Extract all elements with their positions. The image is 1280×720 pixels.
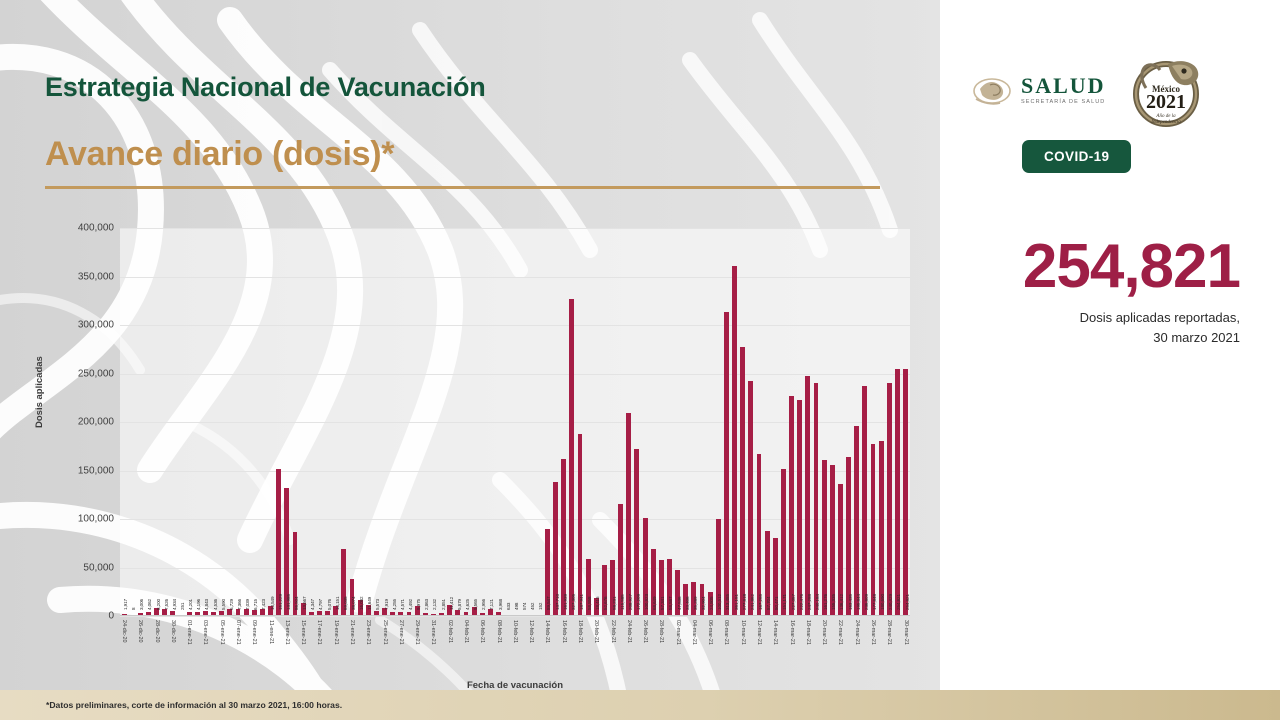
bar-item[interactable]: 58,231 [608,228,616,616]
national-seal-icon [970,73,1014,107]
x-axis-tick: 08-mar-21 [723,620,729,645]
bar-value-label: 254,821 [905,594,910,610]
x-axis-tick: 04-mar-21 [691,620,697,645]
x-axis-tick: 20-mar-21 [821,620,827,645]
bar[interactable] [903,369,908,616]
y-axis-tick: 0 [108,611,114,622]
bar[interactable] [887,383,892,616]
bar[interactable] [724,312,729,616]
salud-text-block: SALUD SECRETARÍA DE SALUD [1021,75,1106,106]
bar[interactable] [814,383,819,616]
x-axis-cell: 02-feb-21 [446,618,454,676]
x-axis-cell [389,618,397,676]
bar[interactable] [561,459,566,616]
bar[interactable] [634,449,639,616]
bar-item[interactable]: 1,917 [120,228,128,616]
bar-item[interactable]: 6,715 [250,228,258,616]
x-axis-cell: 29-ene-21 [413,618,421,676]
svg-text:2021: 2021 [1146,91,1186,113]
bar[interactable] [854,426,859,616]
bar-item[interactable]: 361,151 [731,228,739,616]
bar-item[interactable]: 187,941 [576,228,584,616]
bar-item[interactable]: 58,858 [584,228,592,616]
x-axis-tick: 12-feb-21 [528,620,534,643]
bar-item[interactable]: 5,573 [372,228,380,616]
bar-item[interactable]: 4,492 [405,228,413,616]
x-axis-cell: 24-dic-20 [120,618,128,676]
logo-group: SALUD SECRETARÍA DE SALUD México 2021 Añ… [970,50,1270,130]
x-axis-tick: 14-mar-21 [772,620,778,645]
x-axis-cell: 18-mar-21 [804,618,812,676]
bar-item[interactable]: 13,667 [299,228,307,616]
x-axis-cell [633,618,641,676]
mexico-2021-seal-icon: México 2021 Año de la Independencia [1124,48,1208,132]
x-axis-cell: 14-feb-21 [543,618,551,676]
bar-item[interactable]: 3,968 [494,228,502,616]
x-axis-cell: 24-feb-21 [625,618,633,676]
bar-item[interactable]: 161,276 [820,228,828,616]
bar-item[interactable]: 163,435 [845,228,853,616]
x-axis-tick: 30-dic-20 [170,620,176,642]
header: Estrategia Nacional de Vacunación Avance… [45,72,905,189]
x-axis-tick: 01-ene-21 [186,620,192,645]
x-axis-tick: 28-feb-21 [658,620,664,643]
bar-item[interactable]: 9,975 [413,228,421,616]
x-axis-cell: 10-mar-21 [739,618,747,676]
bar-item[interactable]: 254,821 [893,228,901,616]
x-axis-cell: 27-ene-21 [397,618,405,676]
bar-item[interactable]: 4,625 [462,228,470,616]
x-axis-cell: 31-ene-21 [429,618,437,676]
bar-item[interactable]: 5,879 [454,228,462,616]
bar-item[interactable]: 180,690 [877,228,885,616]
x-axis-cell [291,618,299,676]
x-axis-cell [861,618,869,676]
bar-item[interactable]: 4,797 [315,228,323,616]
x-axis-cell: 11-ene-21 [267,618,275,676]
x-axis-cell: 22-mar-21 [836,618,844,676]
x-axis-tick: 10-mar-21 [740,620,746,645]
x-axis-cell: 26-feb-21 [641,618,649,676]
bar-item[interactable]: 155,335 [828,228,836,616]
x-axis-tick: 23-ene-21 [365,620,371,645]
bar-item[interactable]: 80,471 [771,228,779,616]
bar[interactable] [846,457,851,616]
y-axis-title: Dosis aplicadas [34,356,45,428]
x-axis-cell [568,618,576,676]
x-axis-cell [551,618,559,676]
bar-item[interactable]: 115,585 [617,228,625,616]
bar[interactable] [822,460,827,616]
x-axis-cell [275,618,283,676]
x-axis-tick: 16-mar-21 [789,620,795,645]
bar-item[interactable]: 4,062 [144,228,152,616]
bar-item[interactable]: 277,818 [739,228,747,616]
x-axis-cell [584,618,592,676]
x-axis-cell [665,618,673,676]
x-axis-tick: 20-feb-21 [593,620,599,643]
bar-item[interactable]: 7,121 [486,228,494,616]
x-axis-tick: 25-ene-21 [382,620,388,645]
y-axis-tick: 300,000 [78,320,114,331]
x-axis-tick: 26-mar-21 [870,620,876,645]
bar[interactable] [895,369,900,616]
bar-series: 1,91783,0064,0628,2007,5264,9342514,2014… [120,228,910,616]
x-axis-cell [845,618,853,676]
bar-item[interactable]: 7,039 [242,228,250,616]
x-axis-cell [454,618,462,676]
x-axis-cell: 06-mar-21 [706,618,714,676]
bar-item[interactable]: 7,423 [258,228,266,616]
bar[interactable] [626,413,631,616]
x-axis-tick: 06-mar-21 [707,620,713,645]
bar-item[interactable]: 6,729 [226,228,234,616]
x-axis-cell: 14-mar-21 [771,618,779,676]
bar[interactable] [757,454,762,616]
footer-note: *Datos preliminares, corte de informació… [46,700,342,710]
bar-item[interactable]: 136,412 [836,228,844,616]
bar-item[interactable]: 4,571 [397,228,405,616]
bar[interactable] [805,376,810,616]
bar[interactable] [569,299,574,616]
x-axis-cell [210,618,218,676]
x-axis-cell: 15-ene-21 [299,618,307,676]
x-axis-cell [763,618,771,676]
bar-item[interactable]: 57,341 [657,228,665,616]
x-axis-cell [340,618,348,676]
x-axis-cell: 13-ene-21 [283,618,291,676]
x-axis-tick: 26-feb-21 [642,620,648,643]
x-axis-cell [356,618,364,676]
x-axis-tick: 04-feb-21 [463,620,469,643]
x-axis-tick: 13-ene-21 [284,620,290,645]
x-axis-cell [617,618,625,676]
x-axis-cell: 05-ene-21 [218,618,226,676]
x-axis-cell [258,618,266,676]
x-axis-cell: 03-ene-21 [201,618,209,676]
x-axis-tick: 03-ene-21 [202,620,208,645]
x-axis-cell: 08-feb-21 [494,618,502,676]
x-axis-cell [714,618,722,676]
x-axis-cell [307,618,315,676]
bar-item[interactable]: 86,504 [291,228,299,616]
bar-item[interactable]: 172,209 [633,228,641,616]
x-axis-cell [242,618,250,676]
x-axis-tick: 24-dic-20 [121,620,127,642]
x-axis-tick: 22-mar-21 [837,620,843,645]
x-axis-cell: 25-ene-21 [381,618,389,676]
caption-line-1: Dosis aplicadas reportadas, [940,308,1240,328]
bar-item[interactable]: 8,200 [153,228,161,616]
x-axis-cell: 01-ene-21 [185,618,193,676]
bar-item[interactable]: 58,587 [665,228,673,616]
bar-item[interactable]: 5,590 [218,228,226,616]
x-axis-cell: 20-mar-21 [820,618,828,676]
bar-item[interactable]: 251 [177,228,185,616]
x-axis-cell [193,618,201,676]
x-axis-tick: 30-mar-21 [903,620,909,645]
y-axis-tick: 200,000 [78,417,114,428]
y-axis-tick: 150,000 [78,465,114,476]
x-axis-cell: 08-mar-21 [722,618,730,676]
bar-item[interactable]: 195,844 [853,228,861,616]
bar-item[interactable]: 208,927 [625,228,633,616]
y-axis-tick: 400,000 [78,223,114,234]
bar-item[interactable]: 69,035 [340,228,348,616]
x-axis-tick: 09-ene-21 [251,620,257,645]
x-axis-cell: 24-mar-21 [853,618,861,676]
bar-item[interactable]: 10,549 [267,228,275,616]
bar[interactable] [871,444,876,617]
x-axis-cell [877,618,885,676]
bar[interactable] [578,434,583,616]
bar-item[interactable]: 24,805 [706,228,714,616]
bar-item[interactable]: 633 [503,228,511,616]
x-axis-tick: 12-mar-21 [756,620,762,645]
x-axis-cell: 02-mar-21 [674,618,682,676]
y-axis-tick: 100,000 [78,514,114,525]
bar-item[interactable]: 89,547 [543,228,551,616]
x-axis-cell [144,618,152,676]
bar-item[interactable]: 152 [535,228,543,616]
bar-item[interactable]: 327,305 [568,228,576,616]
bar[interactable] [740,347,745,616]
x-axis-cell: 07-ene-21 [234,618,242,676]
bar-item[interactable]: 4,201 [185,228,193,616]
bar-item[interactable]: 241,862 [747,228,755,616]
page-title: Estrategia Nacional de Vacunación [45,72,905,103]
bar-item[interactable]: 7,366 [234,228,242,616]
x-axis-line [120,615,910,616]
x-axis-cell: 17-ene-21 [315,618,323,676]
bar-item[interactable]: 254,821 [902,228,910,616]
bar[interactable] [862,386,867,616]
bar-item[interactable]: 167,265 [755,228,763,616]
bar-item[interactable]: 222,476 [796,228,804,616]
svg-text:Independencia: Independencia [1150,120,1181,125]
caption-line-2: 30 marzo 2021 [940,328,1240,348]
bar-item[interactable]: 18,415 [592,228,600,616]
x-axis-tick: 24-mar-21 [854,620,860,645]
bar-item[interactable]: 240,184 [812,228,820,616]
x-axis-cell [421,618,429,676]
x-axis-tick: 26-dic-20 [137,620,143,642]
x-axis-cell: 12-mar-21 [755,618,763,676]
bar-item[interactable]: 4,536 [210,228,218,616]
x-axis-tick: 02-mar-21 [675,620,681,645]
bar-item[interactable]: 2,132 [429,228,437,616]
x-axis-cell: 28-dic-20 [153,618,161,676]
daily-doses-bar-chart: Dosis aplicadas 050,000100,000150,000200… [40,228,920,688]
x-axis-cell [405,618,413,676]
x-axis-tick: 18-mar-21 [805,620,811,645]
title-divider [45,186,880,189]
x-axis-cell: 10-feb-21 [511,618,519,676]
x-axis-tick: 21-ene-21 [349,620,355,645]
bar[interactable] [879,441,884,616]
bar-item[interactable]: 52,676 [600,228,608,616]
bar-item[interactable]: 4,255 [389,228,397,616]
footer-bar: *Datos preliminares, corte de informació… [0,690,1280,720]
x-axis-cell [747,618,755,676]
x-axis-cell: 20-feb-21 [592,618,600,676]
bar-item[interactable]: 11,412 [446,228,454,616]
bar-item[interactable]: 3,006 [136,228,144,616]
y-axis-ticks: 050,000100,000150,000200,000250,000300,0… [52,228,114,616]
bar-item[interactable]: 32,904 [698,228,706,616]
x-axis-cell: 23-ene-21 [364,618,372,676]
bar-item[interactable]: 100,823 [641,228,649,616]
x-axis-cell [828,618,836,676]
x-axis-tick: 31-ene-21 [430,620,436,645]
bar-item[interactable]: 452 [527,228,535,616]
x-axis-cell: 26-mar-21 [869,618,877,676]
covid-19-badge: COVID-19 [1022,140,1131,173]
x-axis-cell: 09-ene-21 [250,618,258,676]
bar-item[interactable]: 240,429 [885,228,893,616]
bar[interactable] [732,266,737,616]
bar-item[interactable]: 151,171 [779,228,787,616]
x-axis-tick: 06-feb-21 [479,620,485,643]
x-axis-tick: 08-feb-21 [496,620,502,643]
bar-item[interactable]: 16,082 [356,228,364,616]
bar-item[interactable]: 574 [519,228,527,616]
bar-item[interactable]: 68,649 [649,228,657,616]
x-axis-cell [226,618,234,676]
bar-item[interactable]: 227,057 [788,228,796,616]
bar[interactable] [748,381,753,616]
x-axis-cell: 28-mar-21 [885,618,893,676]
bar-item[interactable]: 4,347 [307,228,315,616]
x-axis-tick: 28-dic-20 [154,620,160,642]
bar-item[interactable]: 161,939 [560,228,568,616]
bar-item[interactable]: 11,649 [364,228,372,616]
y-axis-tick: 350,000 [78,271,114,282]
bar[interactable] [789,396,794,616]
x-axis-cell [698,618,706,676]
bar-item[interactable]: 5,076 [324,228,332,616]
salud-wordmark: SALUD [1021,75,1106,97]
gridline [120,616,910,617]
x-axis-tick: 16-feb-21 [561,620,567,643]
x-axis-tick: 27-ene-21 [398,620,404,645]
x-axis-cell [731,618,739,676]
bar-item[interactable]: 498 [511,228,519,616]
bar-item[interactable]: 7,919 [381,228,389,616]
x-axis-tick: 15-ene-21 [300,620,306,645]
x-axis-tick: 02-feb-21 [447,620,453,643]
plot-area: 1,91783,0064,0628,2007,5264,9342514,2014… [120,228,910,616]
x-axis-cell [372,618,380,676]
bar-item[interactable]: 247,288 [804,228,812,616]
bar-item[interactable]: 7,526 [161,228,169,616]
x-axis-cell [682,618,690,676]
x-axis-tick: 29-ene-21 [414,620,420,645]
x-axis-cell [503,618,511,676]
page-subtitle: Avance diario (dosis)* [45,135,905,174]
bar-item[interactable]: 131,985 [283,228,291,616]
y-axis-tick: 50,000 [83,562,114,573]
x-axis-cell: 26-dic-20 [136,618,144,676]
bar-item[interactable]: 2,956 [478,228,486,616]
bar-item[interactable]: 33,406 [682,228,690,616]
x-axis-cell: 30-mar-21 [902,618,910,676]
bar-item[interactable]: 137,710 [551,228,559,616]
x-axis-cell: 04-mar-21 [690,618,698,676]
x-axis-cell: 16-mar-21 [788,618,796,676]
bar-item[interactable]: 151,229 [275,228,283,616]
x-axis-cell [779,618,787,676]
x-axis-cell: 04-feb-21 [462,618,470,676]
x-axis-tick: 18-feb-21 [577,620,583,643]
bar-item[interactable]: 313,485 [722,228,730,616]
total-doses-value: 254,821 [940,236,1240,298]
x-axis-cell [486,618,494,676]
x-axis-cell [437,618,445,676]
x-axis-tick: 28-mar-21 [886,620,892,645]
x-axis-tick: 22-feb-21 [610,620,616,643]
x-axis-cell [893,618,901,676]
bar-item[interactable]: 177,848 [869,228,877,616]
x-axis-cell [812,618,820,676]
bar-item[interactable]: 4,196 [193,228,201,616]
x-axis-cell [470,618,478,676]
x-axis-tick: 24-feb-21 [626,620,632,643]
bar-item[interactable]: 10,151 [332,228,340,616]
svg-text:Año de la: Año de la [1155,114,1176,119]
bar-item[interactable]: 2,851 [437,228,445,616]
x-axis-cell [519,618,527,676]
bar-item[interactable]: 9,565 [470,228,478,616]
bar-item[interactable]: 8 [128,228,136,616]
x-axis-cell: 30-dic-20 [169,618,177,676]
x-axis-ticks: 24-dic-2026-dic-2028-dic-2030-dic-2001-e… [120,618,910,676]
salud-tagline: SECRETARÍA DE SALUD [1021,100,1106,106]
x-axis-tick: 14-feb-21 [544,620,550,643]
x-axis-cell: 19-ene-21 [332,618,340,676]
x-axis-cell: 06-feb-21 [478,618,486,676]
bar-item[interactable]: 2,863 [421,228,429,616]
x-axis-tick: 17-ene-21 [316,620,322,645]
bar-item[interactable]: 38,074 [348,228,356,616]
bar-item[interactable]: 4,843 [201,228,209,616]
x-axis-cell [128,618,136,676]
x-axis-tick: 07-ene-21 [235,620,241,645]
summary-panel: SALUD SECRETARÍA DE SALUD México 2021 Añ… [940,0,1280,690]
x-axis-cell: 28-feb-21 [657,618,665,676]
x-axis-cell [796,618,804,676]
x-axis-cell: 16-feb-21 [560,618,568,676]
x-axis-cell [161,618,169,676]
bar-item[interactable]: 4,934 [169,228,177,616]
x-axis-tick: 05-ene-21 [219,620,225,645]
x-axis-tick: 11-ene-21 [268,620,274,644]
x-axis-cell [600,618,608,676]
x-axis-cell [535,618,543,676]
x-axis-tick: 19-ene-21 [333,620,339,645]
bar-item[interactable]: 100,512 [714,228,722,616]
x-axis-cell: 21-ene-21 [348,618,356,676]
bar[interactable] [797,400,802,616]
bar-item[interactable]: 87,704 [763,228,771,616]
x-axis-tick: 10-feb-21 [512,620,518,643]
bar-item[interactable]: 47,536 [674,228,682,616]
x-axis-cell [177,618,185,676]
total-doses-caption: Dosis aplicadas reportadas, 30 marzo 202… [940,308,1240,347]
bar-item[interactable]: 35,289 [690,228,698,616]
x-axis-cell: 18-feb-21 [576,618,584,676]
bar-item[interactable]: 236,809 [861,228,869,616]
